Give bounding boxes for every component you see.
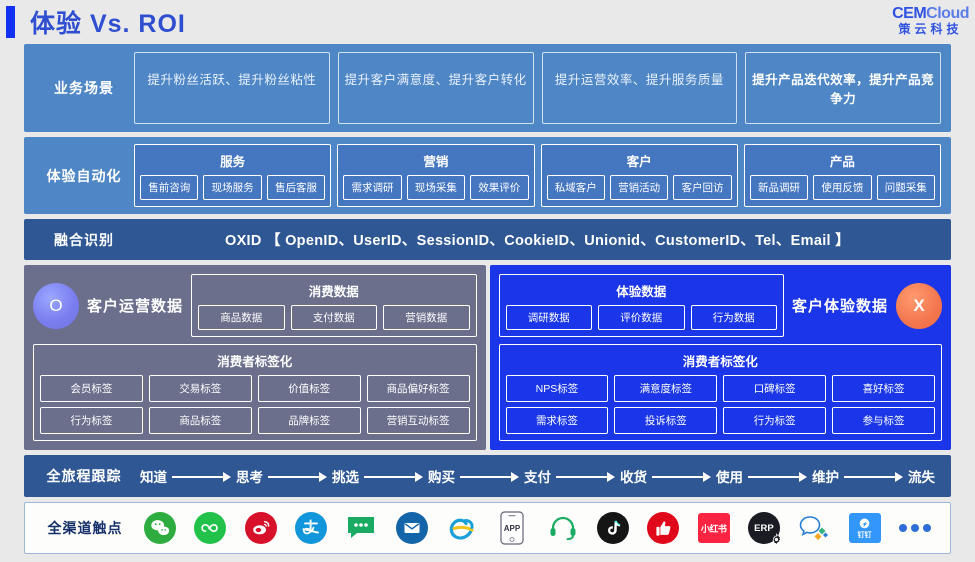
work-wechat-icon[interactable]: [797, 511, 831, 545]
consumption-data-box: 消费数据 商品数据 支付数据 营销数据: [191, 274, 476, 337]
logo-wordmark: CEMCloud: [892, 6, 969, 22]
journey-arrow-icon: [364, 470, 423, 482]
operation-tag-box: 消费者标签化 会员标签 交易标签 价值标签 商品偏好标签 行为标签 商品标签 品…: [33, 344, 477, 441]
journey-row: 全旅程跟踪 知道 思考 挑选 购买 支付 收货 使用 维护 流失: [24, 455, 951, 497]
journey-step: 购买: [428, 466, 455, 486]
experience-chip[interactable]: 评价数据: [598, 305, 685, 330]
browser-glyph: [446, 512, 478, 544]
fusion-id-row: 融合识别 OXID 【 OpenID、UserID、SessionID、Cook…: [24, 219, 951, 260]
journey-arrow-icon: [460, 470, 519, 482]
journey-step: 思考: [236, 466, 263, 486]
data-panels: O 客户运营数据 消费数据 商品数据 支付数据 营销数据 消费者标签化 会员标签: [24, 265, 951, 450]
journey-step: 流失: [908, 466, 935, 486]
operation-tag[interactable]: 营销互动标签: [367, 407, 470, 434]
automation-chip[interactable]: 私域客户: [547, 175, 605, 200]
erp-glyph: ERP: [748, 512, 780, 544]
automation-chip[interactable]: 现场采集: [407, 175, 465, 200]
experience-tag[interactable]: 投诉标签: [614, 407, 717, 434]
xiaohongshu-glyph: 小红书: [698, 513, 730, 543]
operation-tag-title: 消费者标签化: [40, 351, 470, 370]
fusion-id-text: OXID 【 OpenID、UserID、SessionID、CookieID、…: [134, 229, 941, 250]
erp-icon[interactable]: ERP: [747, 511, 781, 545]
douyin-glyph: [597, 512, 629, 544]
experience-tag[interactable]: 口碑标签: [723, 375, 826, 402]
journey-arrow-icon: [844, 470, 903, 482]
page-title: 体验 Vs. ROI: [30, 4, 186, 40]
email-glyph: [396, 512, 428, 544]
journey-steps: 知道 思考 挑选 购买 支付 收货 使用 维护 流失: [134, 466, 941, 486]
browser-icon[interactable]: [445, 511, 479, 545]
journey-label: 全旅程跟踪: [34, 466, 134, 486]
channel-label: 全渠道触点: [35, 518, 135, 538]
weibo-glyph: [245, 512, 277, 544]
app-icon[interactable]: APP: [495, 511, 529, 545]
thumbs-up-icon[interactable]: [646, 511, 680, 545]
experience-tag-title: 消费者标签化: [506, 351, 936, 370]
experience-panel-title: 客户体验数据: [792, 295, 888, 316]
svg-text:APP: APP: [504, 524, 521, 533]
consumption-chip[interactable]: 商品数据: [198, 305, 285, 330]
automation-row: 体验自动化 服务 售前咨询 现场服务 售后客服 营销 需求调研 现场采集 效果评…: [24, 137, 951, 214]
journey-step: 使用: [716, 466, 743, 486]
tag-row: 行为标签 商品标签 品牌标签 营销互动标签: [40, 407, 470, 434]
more-dots-glyph: [899, 524, 931, 532]
automation-chip[interactable]: 效果评价: [470, 175, 528, 200]
headset-glyph: [548, 514, 578, 542]
automation-chip-group: 售前咨询 现场服务 售后客服: [140, 175, 325, 200]
experience-data-box: 体验数据 调研数据 评价数据 行为数据: [499, 274, 784, 337]
channel-icon-list: APP: [135, 511, 940, 545]
experience-tag-box: 消费者标签化 NPS标签 满意度标签 口碑标签 喜好标签 需求标签 投诉标签 行…: [499, 344, 943, 441]
experience-tag[interactable]: 满意度标签: [614, 375, 717, 402]
operation-tag-rows: 会员标签 交易标签 价值标签 商品偏好标签 行为标签 商品标签 品牌标签 营销互…: [40, 375, 470, 434]
automation-chip-group: 私域客户 营销活动 客户回访: [547, 175, 732, 200]
automation-column-title: 营销: [343, 151, 528, 170]
journey-arrow-icon: [172, 470, 231, 482]
automation-columns: 服务 售前咨询 现场服务 售后客服 营销 需求调研 现场采集 效果评价 客户: [134, 144, 941, 207]
automation-chip-group: 需求调研 现场采集 效果评价: [343, 175, 528, 200]
operation-tag[interactable]: 会员标签: [40, 375, 143, 402]
experience-panel-header: X 客户体验数据 体验数据 调研数据 评价数据 行为数据: [499, 274, 943, 337]
consumption-chip-group: 商品数据 支付数据 营销数据: [198, 305, 469, 330]
journey-step: 支付: [524, 466, 551, 486]
business-scenario-item[interactable]: 提升粉丝活跃、提升粉丝粘性: [134, 52, 330, 124]
mini-program-icon[interactable]: [193, 511, 227, 545]
mini-program-glyph: [194, 512, 226, 544]
automation-column-marketing: 营销 需求调研 现场采集 效果评价: [337, 144, 534, 207]
channel-row: 全渠道触点: [24, 502, 951, 554]
operation-tag[interactable]: 商品标签: [149, 407, 252, 434]
tag-row: 会员标签 交易标签 价值标签 商品偏好标签: [40, 375, 470, 402]
experience-data-title: 体验数据: [506, 281, 777, 300]
automation-chip[interactable]: 售后客服: [267, 175, 325, 200]
operation-tag[interactable]: 品牌标签: [258, 407, 361, 434]
business-scenario-label: 业务场景: [34, 78, 134, 98]
automation-chip[interactable]: 使用反馈: [813, 175, 871, 200]
experience-chip-group: 调研数据 评价数据 行为数据: [506, 305, 777, 330]
xiaohongshu-icon[interactable]: 小红书: [697, 511, 731, 545]
experience-tag[interactable]: 参与标签: [832, 407, 935, 434]
weibo-icon[interactable]: [244, 511, 278, 545]
automation-label: 体验自动化: [34, 166, 134, 186]
operation-tag[interactable]: 交易标签: [149, 375, 252, 402]
dingtalk-icon[interactable]: 钉钉: [848, 511, 882, 545]
sms-icon[interactable]: [344, 511, 378, 545]
title-accent-bar: [6, 6, 15, 38]
experience-tag[interactable]: 需求标签: [506, 407, 609, 434]
experience-tag-rows: NPS标签 满意度标签 口碑标签 喜好标签 需求标签 投诉标签 行为标签 参与标…: [506, 375, 936, 434]
logo-cem-text: CEM: [892, 5, 926, 22]
brand-logo: CEMCloud 策云科技: [892, 6, 969, 35]
automation-chip[interactable]: 新品调研: [750, 175, 808, 200]
experience-chip[interactable]: 行为数据: [691, 305, 778, 330]
journey-step: 知道: [140, 466, 167, 486]
slide-header: 体验 Vs. ROI CEMCloud 策云科技: [0, 0, 975, 40]
logo-chinese-name: 策云科技: [892, 23, 969, 35]
o-badge-icon: O: [33, 283, 79, 329]
journey-arrow-icon: [268, 470, 327, 482]
consumption-chip[interactable]: 支付数据: [291, 305, 378, 330]
automation-column-title: 客户: [547, 151, 732, 170]
automation-column-title: 产品: [750, 151, 935, 170]
tag-row: 需求标签 投诉标签 行为标签 参与标签: [506, 407, 936, 434]
journey-arrow-icon: [748, 470, 807, 482]
thumbs-up-glyph: [647, 512, 679, 544]
logo-cloud-text: Cloud: [926, 5, 969, 22]
sms-glyph: [346, 515, 376, 541]
automation-chip-group: 新品调研 使用反馈 问题采集: [750, 175, 935, 200]
consumption-data-title: 消费数据: [198, 281, 469, 300]
tag-row: NPS标签 满意度标签 口碑标签 喜好标签: [506, 375, 936, 402]
operation-tag[interactable]: 行为标签: [40, 407, 143, 434]
operation-panel-header: O 客户运营数据 消费数据 商品数据 支付数据 营销数据: [33, 274, 477, 337]
dingtalk-glyph: 钉钉: [849, 513, 881, 543]
journey-arrow-icon: [556, 470, 615, 482]
douyin-icon[interactable]: [596, 511, 630, 545]
experience-data-panel: X 客户体验数据 体验数据 调研数据 评价数据 行为数据 消费者标签化 NPS标…: [490, 265, 952, 450]
automation-column-customer: 客户 私域客户 营销活动 客户回访: [541, 144, 738, 207]
alipay-icon[interactable]: [294, 511, 328, 545]
x-badge-icon: X: [896, 283, 942, 329]
work-wechat-glyph: [798, 514, 830, 542]
automation-chip[interactable]: 需求调研: [343, 175, 401, 200]
erp-label: ERP: [754, 523, 774, 534]
wechat-glyph: [144, 512, 176, 544]
business-scenario-item[interactable]: 提升运营效率、提升服务质量: [542, 52, 738, 124]
email-icon[interactable]: [395, 511, 429, 545]
operation-tag[interactable]: 商品偏好标签: [367, 375, 470, 402]
experience-tag[interactable]: NPS标签: [506, 375, 609, 402]
operation-data-panel: O 客户运营数据 消费数据 商品数据 支付数据 营销数据 消费者标签化 会员标签: [24, 265, 486, 450]
business-scenario-item[interactable]: 提升客户满意度、提升客户转化: [338, 52, 534, 124]
experience-tag[interactable]: 喜好标签: [832, 375, 935, 402]
operation-panel-title: 客户运营数据: [87, 295, 183, 316]
wechat-icon[interactable]: [143, 511, 177, 545]
slide-body: 业务场景 提升粉丝活跃、提升粉丝粘性 提升客户满意度、提升客户转化 提升运营效率…: [24, 44, 951, 554]
automation-column-product: 产品 新品调研 使用反馈 问题采集: [744, 144, 941, 207]
automation-column-service: 服务 售前咨询 现场服务 售后客服: [134, 144, 331, 207]
automation-chip[interactable]: 售前咨询: [140, 175, 198, 200]
experience-tag[interactable]: 行为标签: [723, 407, 826, 434]
app-phone-glyph: APP: [500, 511, 524, 545]
journey-step: 维护: [812, 466, 839, 486]
journey-arrow-icon: [652, 470, 711, 482]
alipay-glyph: [295, 512, 327, 544]
journey-step: 收货: [620, 466, 647, 486]
automation-chip[interactable]: 问题采集: [877, 175, 935, 200]
business-scenario-row: 业务场景 提升粉丝活跃、提升粉丝粘性 提升客户满意度、提升客户转化 提升运营效率…: [24, 44, 951, 132]
automation-chip[interactable]: 营销活动: [610, 175, 668, 200]
business-scenario-item[interactable]: 提升产品迭代效率，提升产品竞争力: [745, 52, 941, 124]
consumption-chip[interactable]: 营销数据: [383, 305, 470, 330]
business-scenario-list: 提升粉丝活跃、提升粉丝粘性 提升客户满意度、提升客户转化 提升运营效率、提升服务…: [134, 52, 941, 124]
automation-chip[interactable]: 现场服务: [203, 175, 261, 200]
headset-icon[interactable]: [546, 511, 580, 545]
automation-column-title: 服务: [140, 151, 325, 170]
fusion-id-label: 融合识别: [34, 230, 134, 250]
journey-step: 挑选: [332, 466, 359, 486]
operation-tag[interactable]: 价值标签: [258, 375, 361, 402]
dingtalk-label: 钉钉: [858, 532, 872, 539]
automation-chip[interactable]: 客户回访: [673, 175, 731, 200]
experience-chip[interactable]: 调研数据: [506, 305, 593, 330]
more-icon[interactable]: [898, 511, 932, 545]
